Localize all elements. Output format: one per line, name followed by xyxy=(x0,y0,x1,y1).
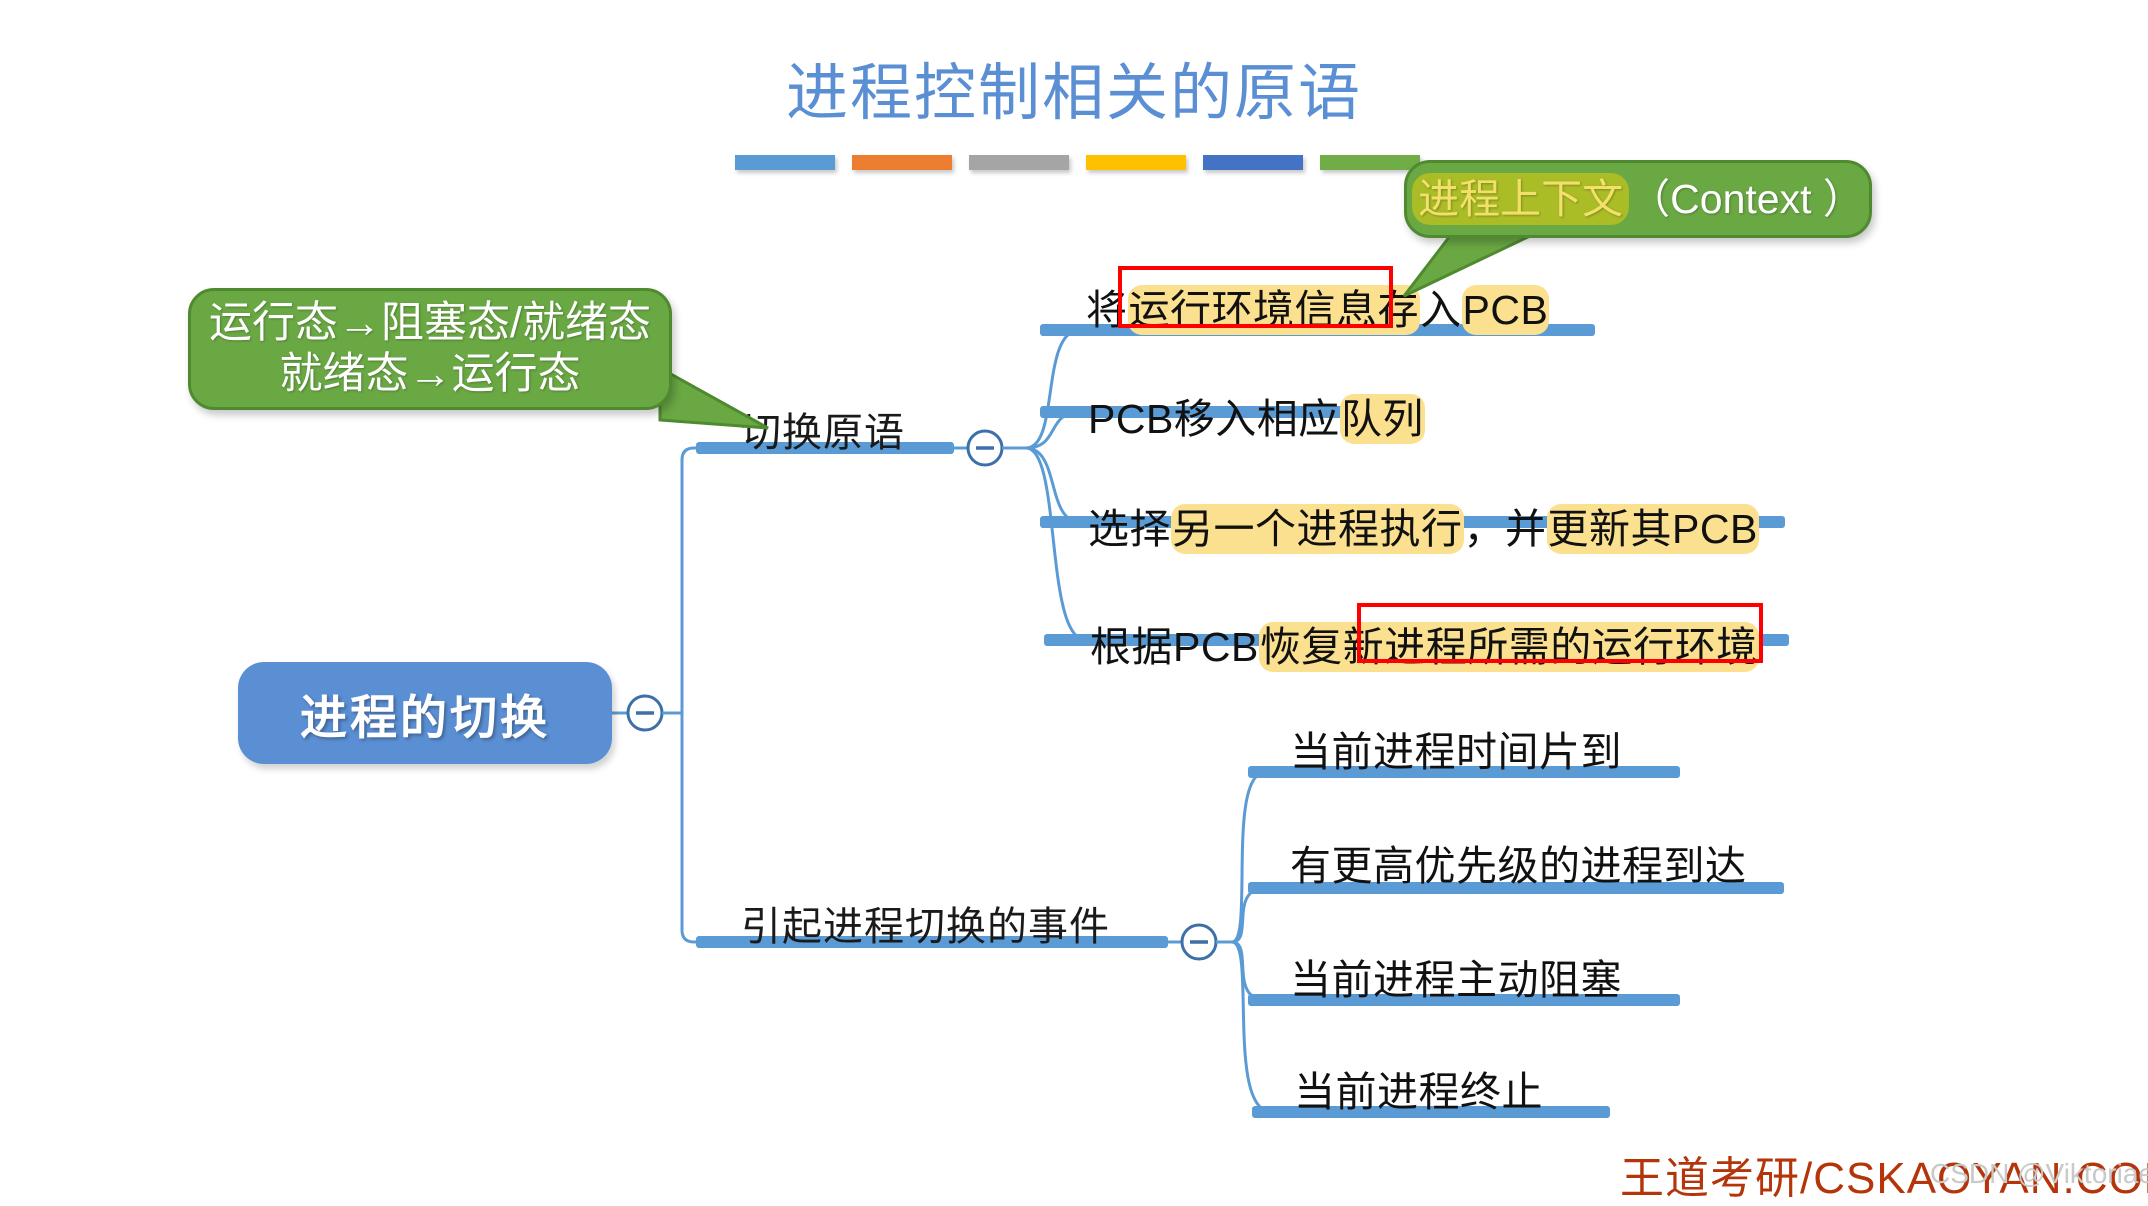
leaf-seg-plain: 根据PCB xyxy=(1090,624,1259,670)
leaf-time-slice-expired[interactable]: 当前进程时间片到 xyxy=(1290,718,1622,778)
leaf-select-another-process[interactable]: 选择另一个进程执行，并更新其PCB xyxy=(1088,495,1759,555)
leaf-store-env-to-pcb[interactable]: 将运行环境信息存入PCB xyxy=(1086,276,1549,336)
branch-label-switch-events[interactable]: 引起进程切换的事件 xyxy=(741,894,1110,952)
leaf-process-self-blocks[interactable]: 当前进程主动阻塞 xyxy=(1290,946,1622,1006)
leaf-seg-plain-2: ，并 xyxy=(1464,506,1547,552)
callout-state-transition: 运行态→阻塞态/就绪态 就绪态→运行态 xyxy=(188,288,672,410)
leaf-seg-highlight: 另一个进程执行 xyxy=(1171,504,1464,554)
slide-canvas: 进程控制相关的原语 xyxy=(0,0,2148,1200)
leaf-seg-plain: PCB移入相应 xyxy=(1088,396,1340,442)
callout-right-highlight: 进程上下文 xyxy=(1412,173,1629,225)
callout-process-context: 进程上下文（Context ） xyxy=(1404,160,1872,238)
callout-right-rest: （Context ） xyxy=(1629,175,1864,223)
leaf-pcb-to-queue[interactable]: PCB移入相应队列 xyxy=(1088,385,1425,445)
leaf-seg-highlight: 队列 xyxy=(1340,394,1425,444)
mindmap-root-node[interactable]: 进程的切换 xyxy=(238,662,612,764)
root-node-label: 进程的切换 xyxy=(300,679,550,748)
leaf-seg-highlight: 运行环境信息存 xyxy=(1128,285,1421,335)
callout-left-line-2: 就绪态→运行态 xyxy=(280,349,581,400)
leaf-higher-priority-arrives[interactable]: 有更高优先级的进程到达 xyxy=(1290,832,1747,892)
leaf-seg-plain: 将 xyxy=(1086,287,1128,333)
leaf-seg-highlight: 恢复新进程所需的运行环境 xyxy=(1259,622,1759,672)
leaf-seg-highlight-2: 更新其PCB xyxy=(1547,504,1759,554)
leaf-seg-highlight-2: PCB xyxy=(1462,285,1550,335)
leaf-process-terminated[interactable]: 当前进程终止 xyxy=(1294,1058,1543,1118)
footer-watermark: CSDN @Viktoriae xyxy=(1930,1158,2148,1190)
leaf-seg-plain: 选择 xyxy=(1088,506,1171,552)
branch-label-switch-primitive[interactable]: 切换原语 xyxy=(741,400,905,458)
leaf-restore-env-from-pcb[interactable]: 根据PCB恢复新进程所需的运行环境 xyxy=(1090,613,1759,673)
leaf-seg-plain-2: 入 xyxy=(1420,287,1462,333)
callout-left-line-1: 运行态→阻塞态/就绪态 xyxy=(209,298,651,349)
